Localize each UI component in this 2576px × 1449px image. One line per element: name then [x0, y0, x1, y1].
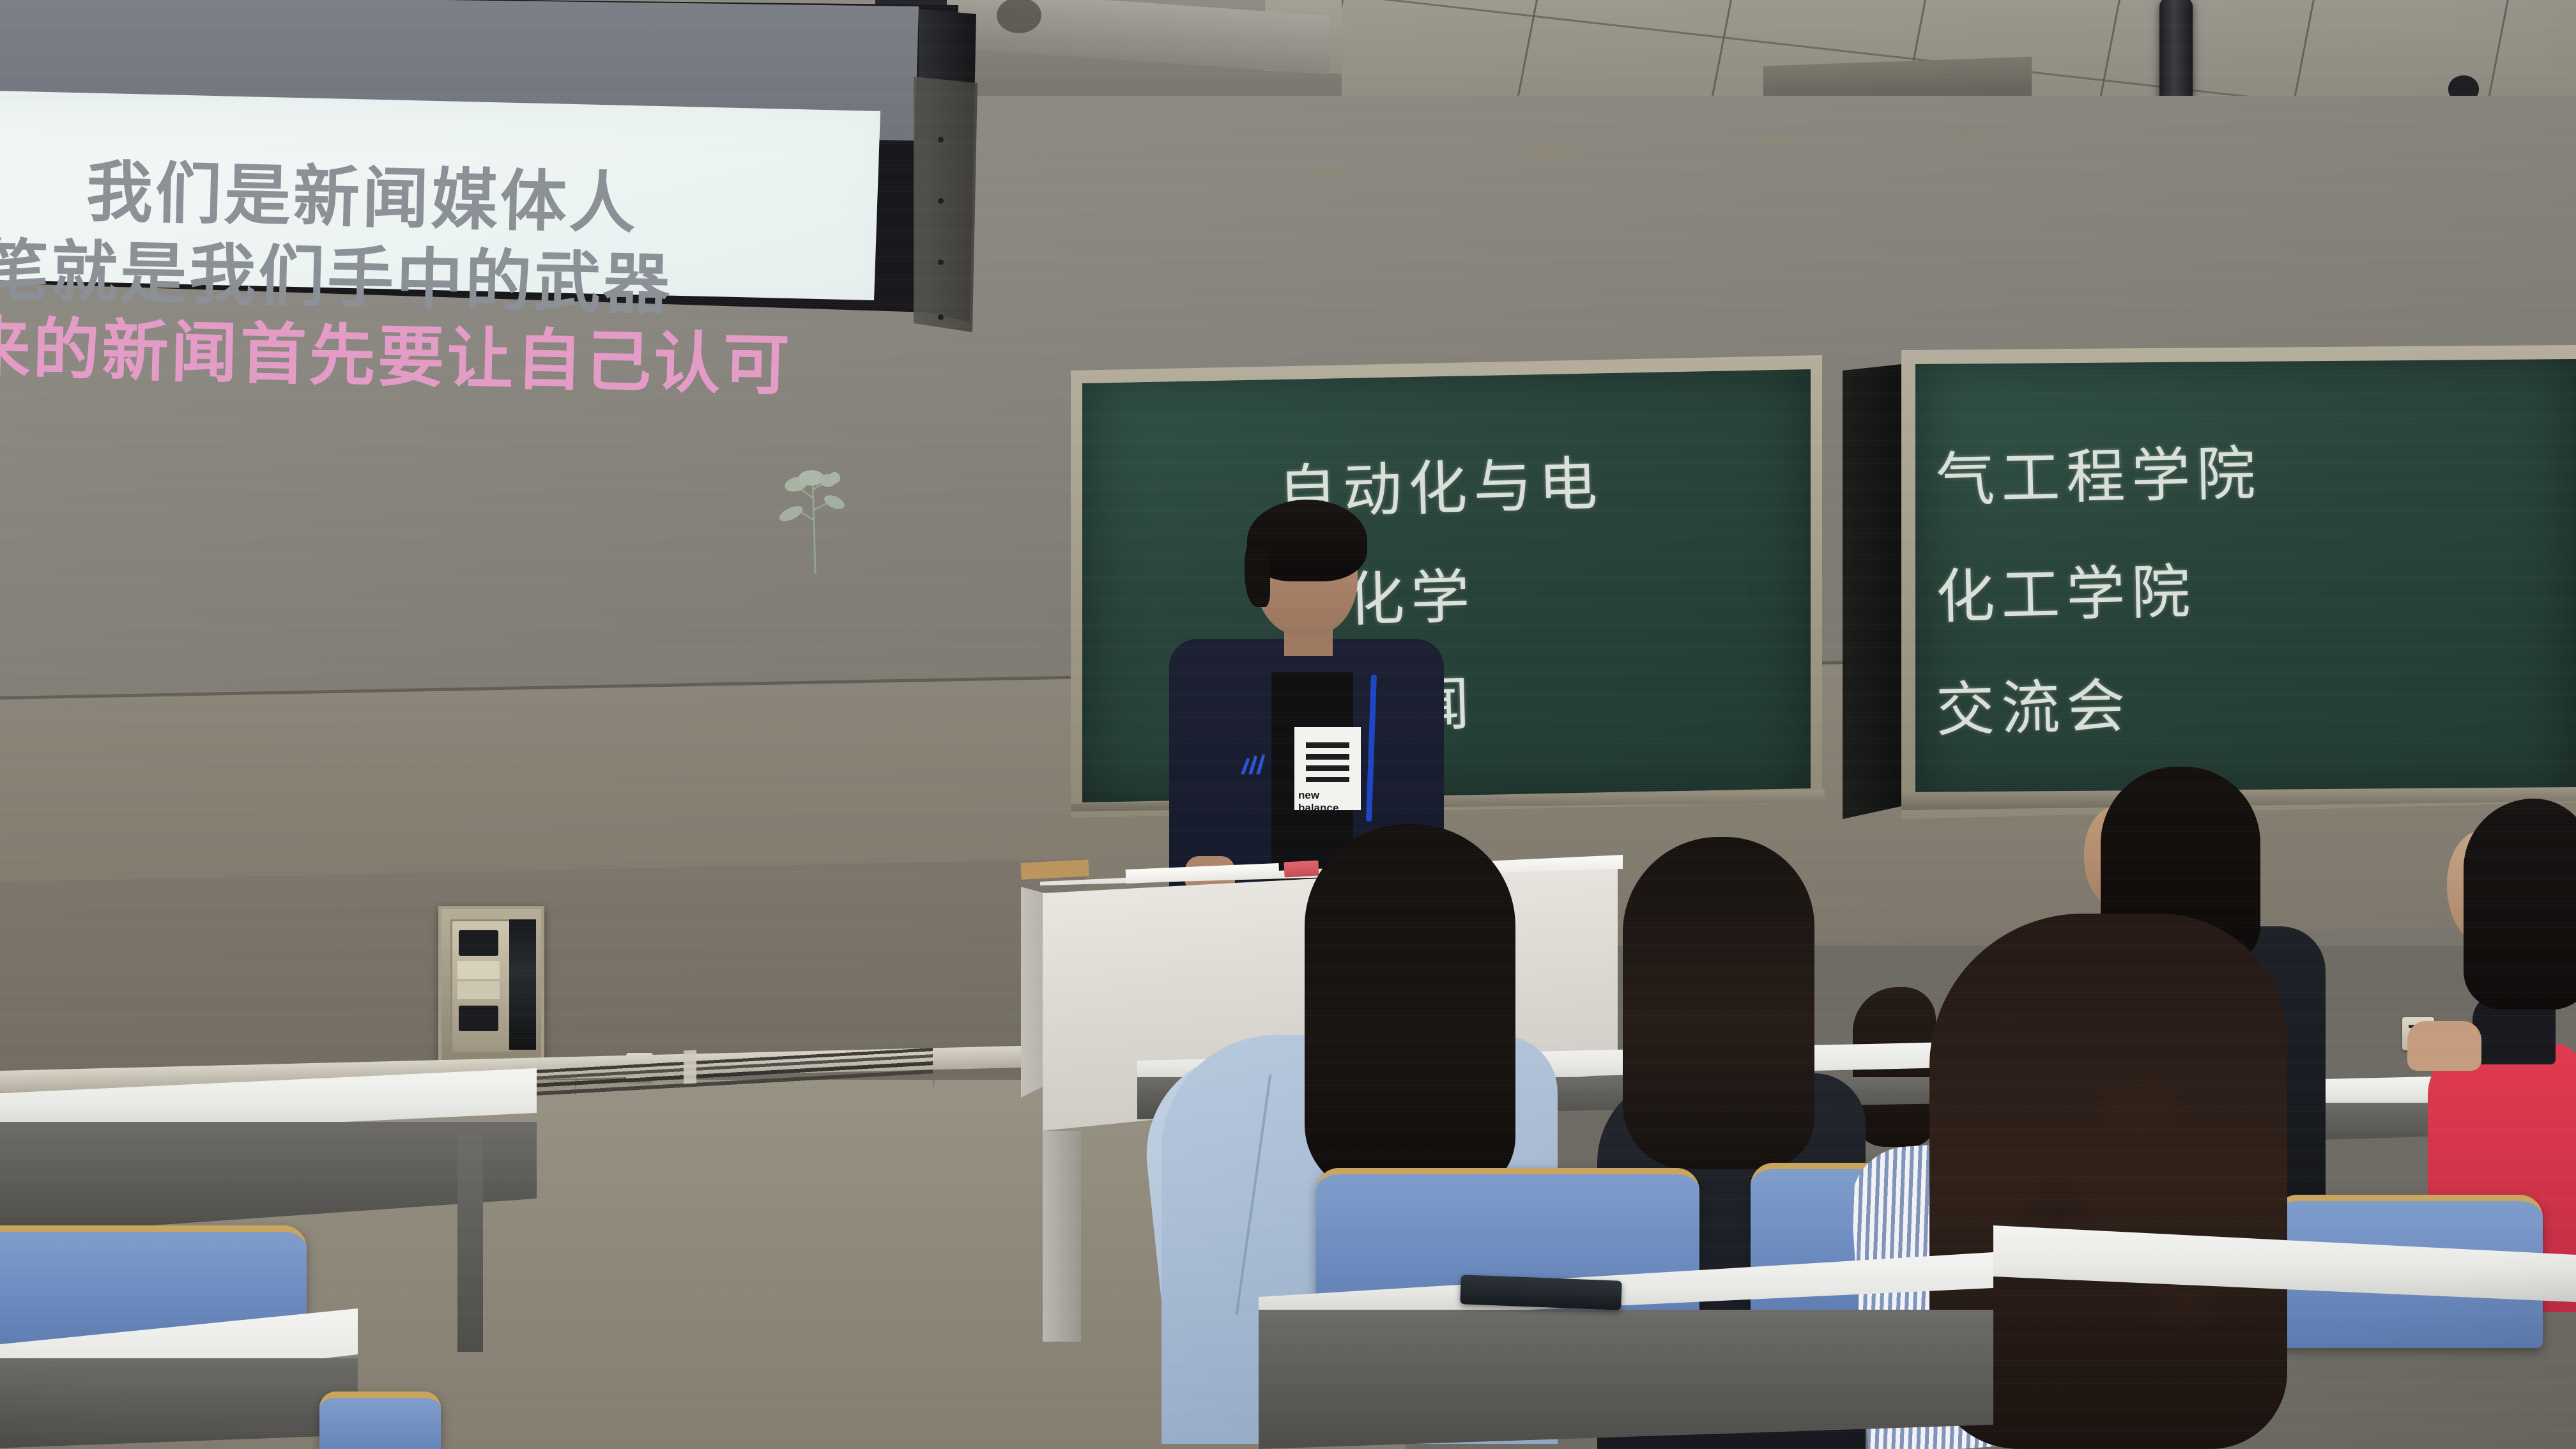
- left-board-line-2: 化学: [1344, 549, 1477, 638]
- presenter-shirt-logo-bars: [1306, 742, 1349, 782]
- student-ponytail-hair: [1623, 837, 1814, 1169]
- panel-interior: [509, 919, 536, 1050]
- cable-tie: [684, 1050, 696, 1084]
- slide-text-block: 我们是新闻媒体人 笔就是我们手中的武器 来的新闻首先要让自己认可: [0, 102, 971, 353]
- student-red-top-hair: [2464, 799, 2576, 1009]
- left-desk-lower-side: [0, 1358, 371, 1449]
- lectern-leg: [1043, 1131, 1081, 1342]
- smartphone[interactable]: [1460, 1275, 1622, 1310]
- right-board-line-3: 交流会: [1935, 659, 2133, 747]
- student-denim-hair: [1305, 824, 1515, 1195]
- presenter-hair-side: [1245, 537, 1270, 607]
- classroom-scene: 自动化与电 化学 新闻 气工程学院 化工学院 交流会 我们是新闻媒体人 笔就是我…: [0, 0, 2576, 1449]
- chair-back-left-lower: [319, 1391, 441, 1449]
- electrical-panel-box[interactable]: [438, 906, 544, 1063]
- adidas-logo-icon: [1238, 754, 1268, 776]
- chalkboard-gap: [1843, 364, 1901, 819]
- sprig-plant-icon: [773, 459, 856, 574]
- panel-door[interactable]: [450, 919, 513, 1054]
- presenter-shirt-brand-text: new balance: [1298, 795, 1360, 809]
- front-center-desk-side: [1259, 1310, 1993, 1449]
- lectern-edge-trim: [1020, 859, 1089, 880]
- left-desk-leg: [457, 1135, 483, 1352]
- right-board-line-2: 化工学院: [1935, 544, 2198, 635]
- slide-line-3: 来的新闻首先要让自己认可: [0, 293, 793, 408]
- right-board-line-1: 气工程学院: [1935, 426, 2263, 518]
- lectern-red-marker: [1284, 861, 1319, 878]
- student-red-top-hand: [2407, 1021, 2481, 1071]
- wall-stains: [1214, 115, 2108, 307]
